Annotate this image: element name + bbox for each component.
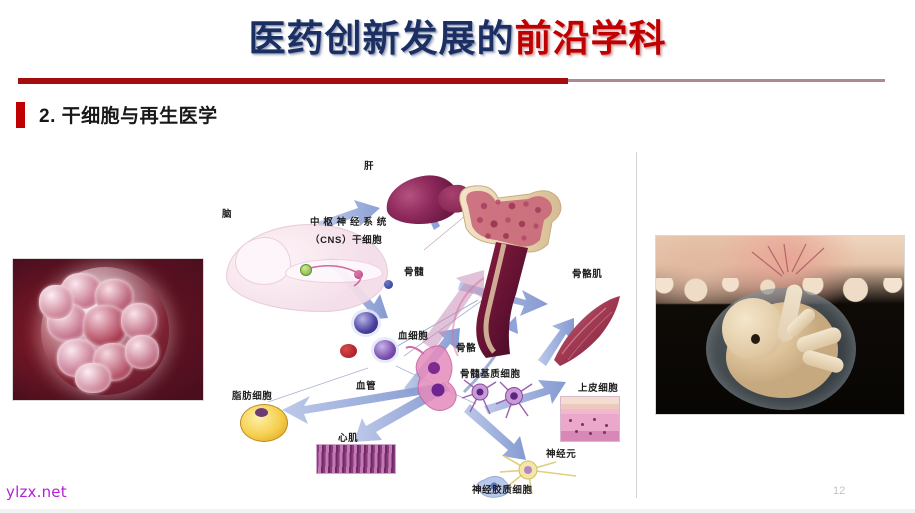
red-blood-cell-art (340, 344, 357, 358)
slide-canvas: 医药创新发展的前沿学科 2. 干细胞与再生医学 (0, 0, 915, 513)
diagram-label-blood-vessel: 血管 (356, 378, 376, 392)
adipocyte-art (240, 404, 288, 442)
diagram-label-cns-line1: 中 枢 神 经 系 统 (310, 214, 387, 228)
diagram-label-marrow-stromal: 骨髓基质细胞 (460, 366, 521, 380)
watermark: ylzx.net (6, 483, 67, 501)
image-blastocyst (12, 258, 204, 401)
stem-cell-differentiation-diagram: 脑 肝 中 枢 神 经 系 统 （CNS）干细胞 骨髓 骨骼肌 血细胞 骨骼 血… (208, 152, 637, 498)
blastocyst-cell (125, 335, 159, 369)
cardiac-muscle-art (316, 444, 396, 474)
diagram-label-cardiac-muscle: 心肌 (338, 430, 358, 444)
page-number: 12 (833, 485, 845, 497)
white-blood-cell-art (354, 312, 378, 334)
brain-lobe-art (235, 237, 291, 285)
diagram-label-epithelial-cell: 上皮细胞 (578, 380, 618, 394)
fetus-head-art (722, 298, 784, 360)
diagram-label-neuron: 神经元 (546, 446, 576, 460)
diagram-label-glial-cell: 神经胶质细胞 (472, 482, 533, 496)
page-title-primary: 医药创新发展的 (249, 18, 515, 59)
lymphocyte-art (374, 340, 396, 360)
title-underline-thick (18, 78, 568, 84)
diagram-label-brain: 脑 (222, 206, 232, 220)
diagram-label-skeletal-muscle: 骨骼肌 (572, 266, 602, 280)
section-heading: 2. 干细胞与再生医学 (16, 101, 218, 128)
fetus-eye-art (751, 334, 760, 344)
adipocyte-nucleus-art (255, 408, 268, 417)
diagram-label-bone: 骨骼 (456, 340, 476, 354)
marrow-stromal-cells-art (460, 374, 544, 432)
slide-bottom-edge (0, 509, 915, 513)
blastocyst-cell (75, 363, 111, 393)
diagram-label-blood-cell: 血细胞 (398, 328, 428, 342)
title-underline-thin (568, 79, 885, 82)
epithelial-tissue-art (560, 396, 620, 442)
page-title-accent: 前沿学科 (515, 18, 667, 59)
image-fetus (655, 235, 905, 415)
section-heading-label: 2. 干细胞与再生医学 (39, 101, 218, 128)
diagram-label-cns-line2: （CNS）干细胞 (310, 232, 382, 246)
blastocyst-cell (121, 303, 157, 339)
diagram-label-liver: 肝 (364, 158, 374, 172)
diagram-label-bone-marrow: 骨髓 (404, 264, 424, 278)
page-title: 医药创新发展的前沿学科 (0, 16, 915, 62)
diagram-label-adipocyte: 脂肪细胞 (232, 388, 272, 402)
blastocyst-cell (39, 285, 73, 319)
section-marker-icon (16, 102, 25, 128)
skeletal-muscle-art (546, 290, 630, 374)
